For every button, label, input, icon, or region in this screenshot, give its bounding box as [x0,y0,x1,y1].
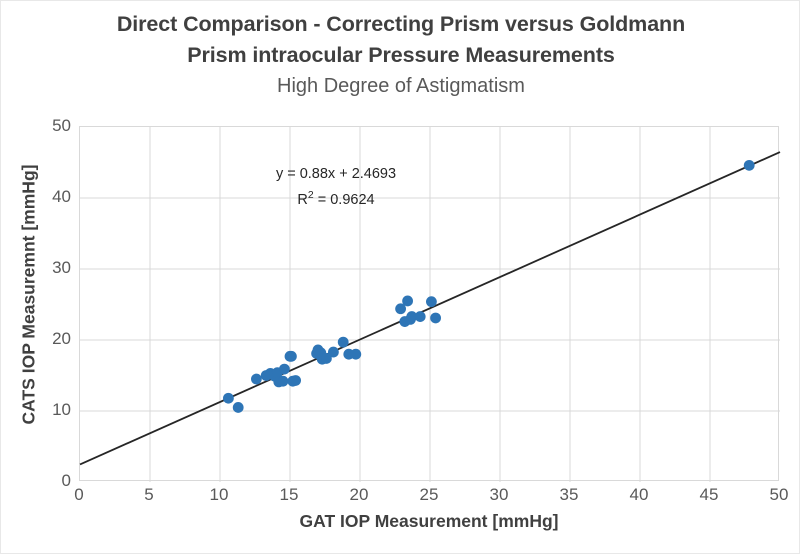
x-axis-tick-label: 25 [399,485,459,505]
data-point-marker [223,393,234,404]
x-axis-tick-label: 45 [679,485,739,505]
data-point-marker [338,337,349,348]
chart-title-block: Direct Comparison - Correcting Prism ver… [1,9,800,101]
data-point-marker [279,364,290,375]
data-point-marker [278,376,289,387]
regression-equation-text: y = 0.88x + 2.4693 [241,163,431,185]
chart-title-line-2: Prism intraocular Pressure Measurements [1,40,800,71]
data-point-marker [744,160,755,171]
y-axis-title: CATS IOP Measuremnt [mmHg] [19,115,40,475]
r-squared-value: = 0.9624 [314,192,375,208]
data-point-marker [402,296,413,307]
x-axis-tick-label: 15 [259,485,319,505]
scatter-chart-figure: Direct Comparison - Correcting Prism ver… [0,0,800,554]
r-squared-text: R2 = 0.9624 [241,185,431,211]
x-axis-tick-label: 5 [119,485,179,505]
data-point-marker [290,375,301,386]
data-point-marker [415,311,426,322]
x-axis-tick-label: 50 [749,485,800,505]
data-point-marker [350,349,361,360]
x-axis-tick-label: 0 [49,485,109,505]
regression-equation-annotation: y = 0.88x + 2.4693 R2 = 0.9624 [241,163,431,211]
x-axis-tick-label: 10 [189,485,249,505]
x-axis-tick-labels: 05101520253035404550 [79,485,779,511]
data-point-marker [251,374,262,385]
x-axis-tick-label: 20 [329,485,389,505]
x-axis-tick-label: 30 [469,485,529,505]
data-point-marker [430,313,441,324]
data-point-marker [328,347,339,358]
chart-title-line-1: Direct Comparison - Correcting Prism ver… [1,9,800,40]
data-point-marker [426,296,437,307]
data-point-marker [233,402,244,413]
r-squared-label: R [297,192,307,208]
chart-subtitle: High Degree of Astigmatism [1,71,800,101]
x-axis-title: GAT IOP Measurement [mmHg] [79,511,779,532]
data-point-marker [286,351,297,362]
x-axis-tick-label: 40 [609,485,669,505]
x-axis-tick-label: 35 [539,485,599,505]
